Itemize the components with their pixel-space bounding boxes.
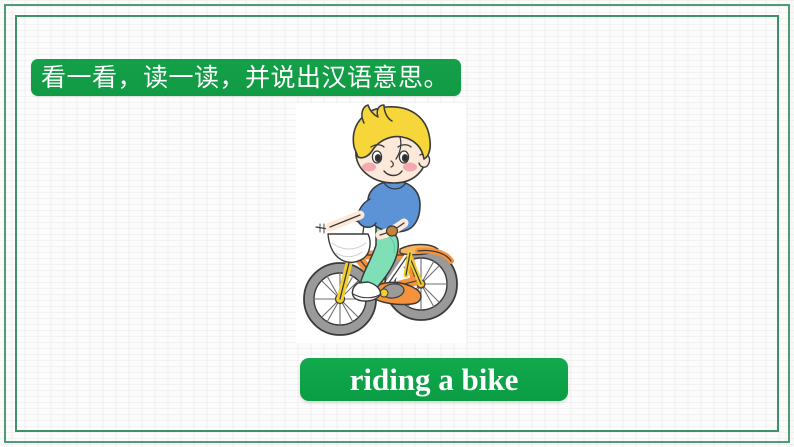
illustration-panel: [296, 103, 466, 343]
vocabulary-caption-pill: riding a bike: [300, 358, 568, 401]
instruction-title-band: 看一看，读一读，并说出汉语意思。: [31, 59, 461, 96]
boy-riding-bike-icon: [296, 103, 466, 343]
vocabulary-caption-text: riding a bike: [350, 364, 519, 395]
slide-canvas: 看一看，读一读，并说出汉语意思。: [0, 0, 794, 447]
instruction-title-text: 看一看，读一读，并说出汉语意思。: [41, 65, 449, 90]
